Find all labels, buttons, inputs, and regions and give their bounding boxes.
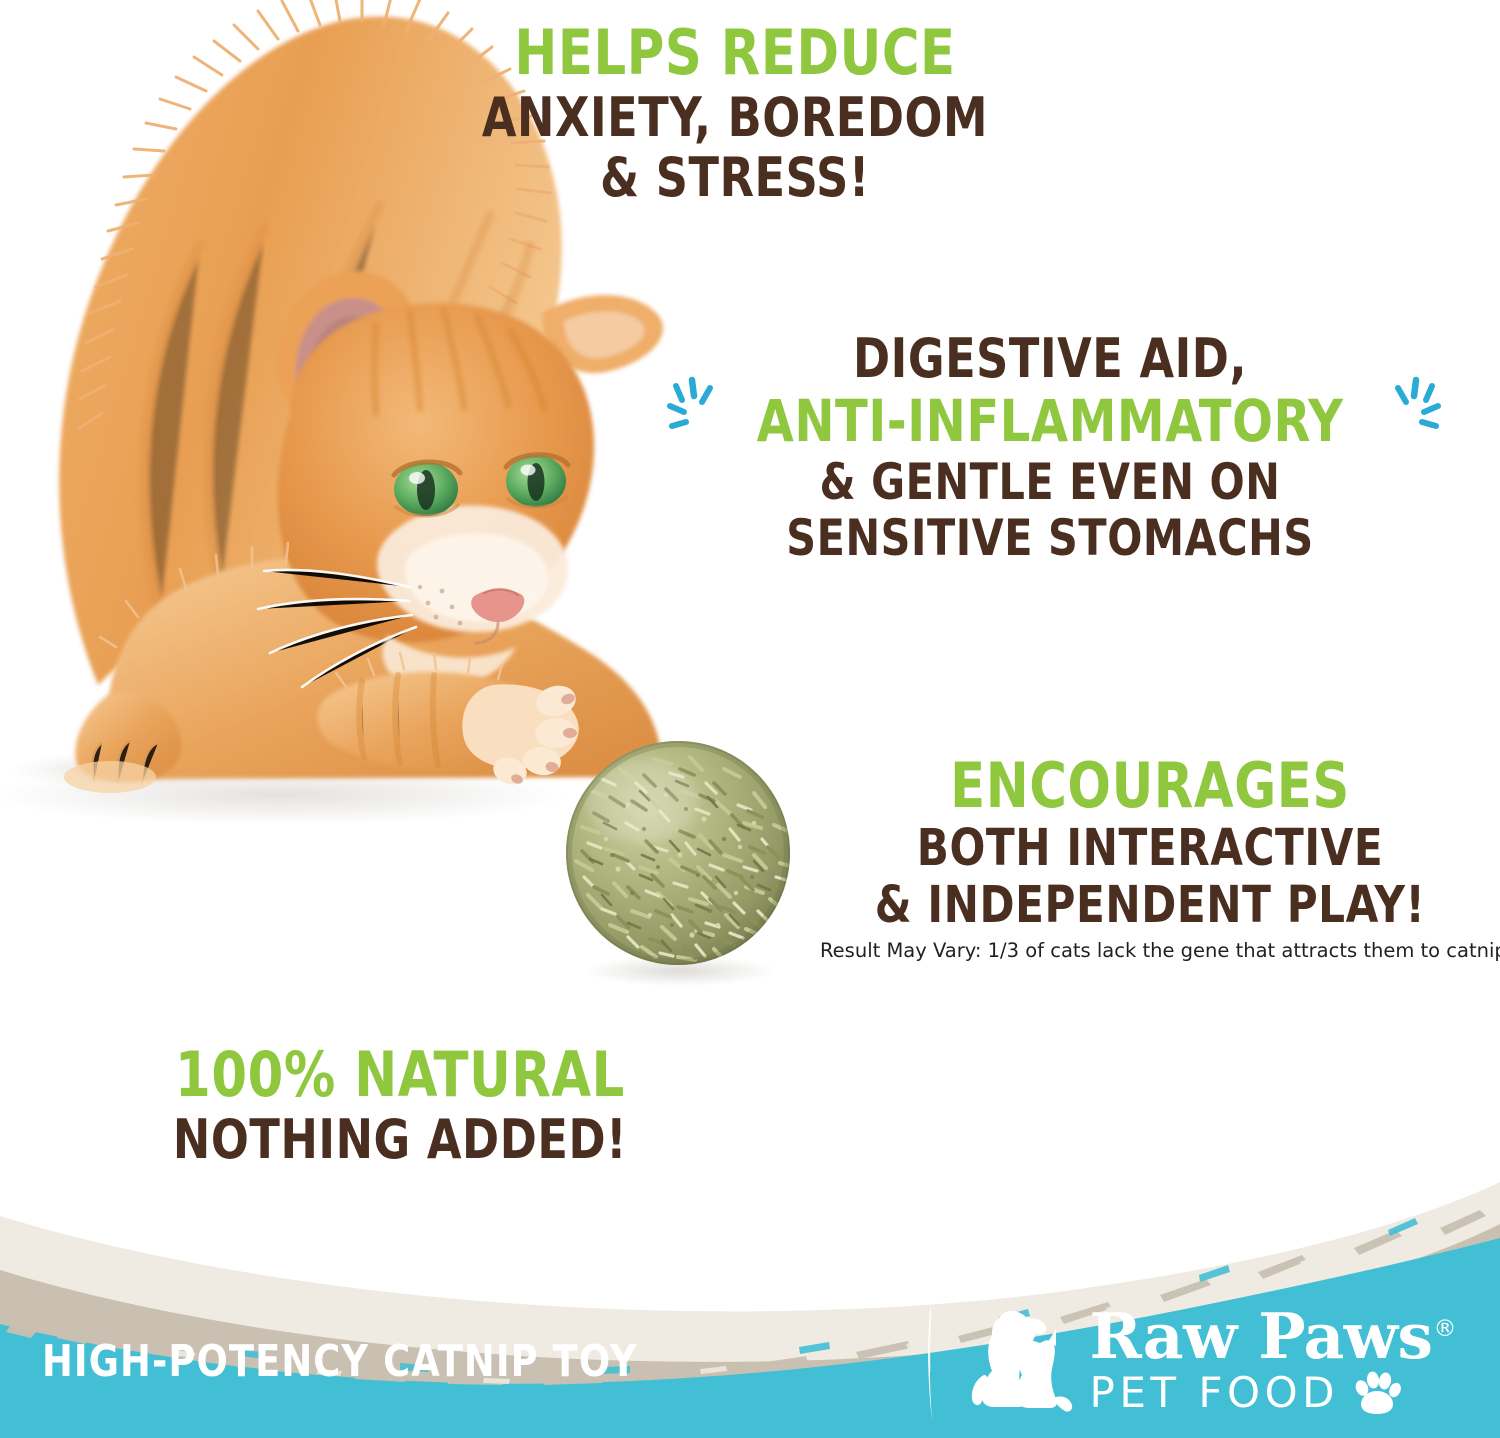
brand-logo: Raw Paws® PET FOOD	[962, 1301, 1457, 1419]
benefit-line: & GENTLE EVEN ON	[682, 454, 1418, 510]
brand-name-text: Raw Paws	[1090, 1299, 1433, 1373]
benefit-block-digestive-aid: DIGESTIVE AID,	[650, 330, 1450, 566]
brand-name-secondary: PET FOOD	[1090, 1371, 1457, 1415]
benefit-line: SENSITIVE STOMACHS	[682, 510, 1418, 566]
brand-wordmark: Raw Paws® PET FOOD	[1090, 1305, 1457, 1415]
paw-print-icon	[1353, 1371, 1401, 1415]
benefit-line: BOTH INTERACTIVE	[846, 820, 1453, 877]
infographic-canvas: HELPS REDUCE ANXIETY, BOREDOM & STRESS! …	[0, 0, 1500, 1438]
benefit-line: ANXIETY, BOREDOM	[441, 88, 1030, 148]
highlighted-line-row: ANTI-INFLAMMATORY	[650, 388, 1450, 454]
disclaimer-text: Result May Vary: 1/3 of cats lack the ge…	[820, 939, 1480, 962]
brand-zone: Raw Paws® PET FOOD	[924, 1296, 1457, 1430]
brand-subtitle-text: PET FOOD	[1090, 1372, 1340, 1414]
benefit-block-encourages-play: ENCOURAGES BOTH INTERACTIVE & INDEPENDEN…	[820, 752, 1480, 962]
footer-bar: HIGH-POTENCY CATNIP TOY	[0, 1288, 1500, 1438]
benefit-line: 100% NATURAL	[142, 1040, 657, 1110]
product-tagline: HIGH-POTENCY CATNIP TOY	[42, 1336, 638, 1391]
benefit-block-reduce-anxiety: HELPS REDUCE ANXIETY, BOREDOM & STRESS!	[415, 18, 1055, 208]
registered-trademark-icon: ®	[1434, 1316, 1457, 1342]
brand-name-primary: Raw Paws®	[1090, 1305, 1457, 1368]
brush-stroke-divider-icon	[924, 1296, 938, 1424]
dog-and-cat-silhouette-icon	[962, 1301, 1080, 1419]
benefit-line: & INDEPENDENT PLAY!	[846, 877, 1453, 935]
benefit-line: DIGESTIVE AID,	[682, 330, 1418, 388]
benefit-line: ENCOURAGES	[846, 752, 1453, 820]
benefit-line: & STRESS!	[441, 148, 1030, 208]
benefit-line-highlighted: ANTI-INFLAMMATORY	[682, 388, 1418, 454]
benefit-line: HELPS REDUCE	[441, 18, 1030, 88]
catnip-ball-product-image	[558, 735, 808, 990]
